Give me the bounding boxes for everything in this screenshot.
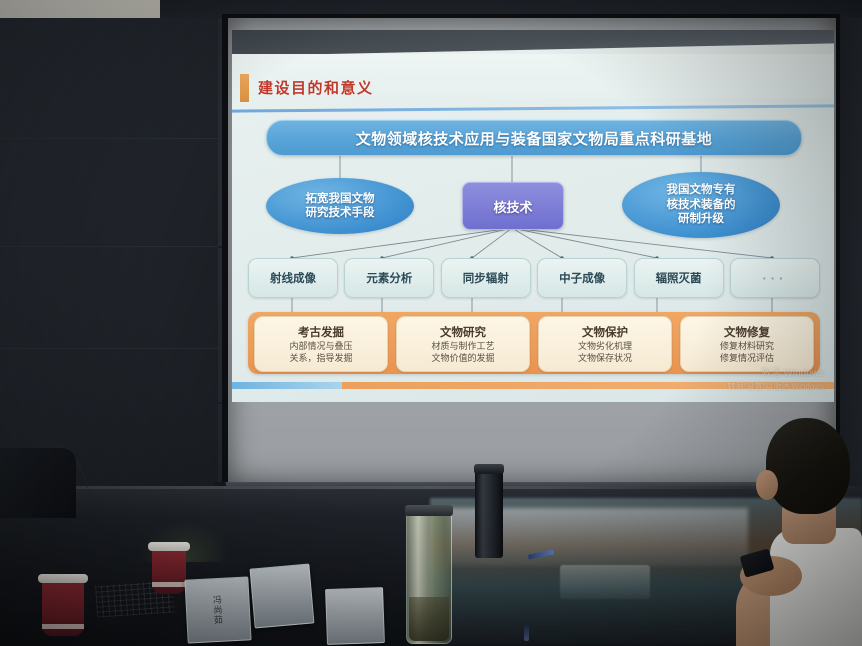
desk-pad xyxy=(560,565,650,599)
technique-box-ellipsis: ··· xyxy=(730,258,820,298)
attendee-ear xyxy=(756,470,778,500)
goal-left-text: 拓宽我国文物 研究技术手段 xyxy=(306,192,375,221)
name-plate-2 xyxy=(249,563,314,628)
slide-section-title: 建设目的和意义 xyxy=(258,77,374,98)
application-card-1: 考古发掘 内部情况与叠压 关系，指导发掘 xyxy=(254,316,388,372)
header-blue-rule xyxy=(232,104,834,112)
slide-main-banner: 文物领域核技术应用与装备国家文物局重点科研基地 xyxy=(266,120,802,156)
presentation-slide: 建设目的和意义 xyxy=(232,30,834,402)
paper-cup-rear[interactable] xyxy=(152,548,186,594)
application-card-4: 文物修复 修复材料研究 修复情况评估 xyxy=(680,316,814,372)
core-technology-box: 核技术 xyxy=(462,182,564,230)
goal-right-text: 我国文物专有 核技术装备的 研制升级 xyxy=(667,183,736,226)
paper-cup-front[interactable] xyxy=(42,580,84,636)
attendee-head xyxy=(766,418,850,514)
pen-secondary[interactable] xyxy=(524,625,529,641)
technique-box-4: 中子成像 xyxy=(537,258,627,298)
application-line-1b: 关系，指导发掘 xyxy=(289,353,352,364)
application-card-3: 文物保护 文物劣化机理 文物保存状况 xyxy=(538,316,672,372)
conference-room-scene: 建设目的和意义 xyxy=(0,0,862,646)
name-plate-1-text: 冯尚茹 xyxy=(211,595,226,626)
application-title-3: 文物保护 xyxy=(582,324,628,340)
watermark-line-1: 激活 Windows xyxy=(728,366,824,381)
windows-activation-watermark: 激活 Windows 转到"设置"以激活 Windows xyxy=(728,366,824,393)
slide-top-shadow-band xyxy=(232,30,834,56)
name-plate-1: 冯尚茹 xyxy=(184,576,251,643)
application-title-4: 文物修复 xyxy=(724,324,770,340)
goal-left-ellipse: 拓宽我国文物 研究技术手段 xyxy=(266,178,414,234)
watermark-line-2: 转到"设置"以激活 Windows xyxy=(728,381,824,393)
technique-box-3: 同步辐射 xyxy=(441,258,531,298)
core-technology-label: 核技术 xyxy=(493,197,532,216)
application-line-4a: 修复材料研究 xyxy=(720,341,774,352)
header-accent-bar xyxy=(240,74,249,102)
application-line-4b: 修复情况评估 xyxy=(720,353,774,364)
application-line-2b: 文物价值的发掘 xyxy=(431,353,494,364)
application-line-2a: 材质与制作工艺 xyxy=(431,341,494,352)
glass-tea-jar[interactable] xyxy=(406,512,452,644)
technique-box-2: 元素分析 xyxy=(344,258,434,298)
wall-panel-left xyxy=(0,18,218,488)
application-title-1: 考古发掘 xyxy=(298,324,344,340)
application-line-3b: 文物保存状况 xyxy=(578,353,632,364)
application-line-1a: 内部情况与叠压 xyxy=(289,341,352,352)
footer-strip-blue xyxy=(232,382,342,389)
black-thermos[interactable] xyxy=(475,468,503,558)
application-row: 考古发掘 内部情况与叠压 关系，指导发掘 文物研究 材质与制作工艺 文物价值的发… xyxy=(254,316,814,370)
name-plate-3 xyxy=(325,587,385,645)
technique-box-5: 辐照灭菌 xyxy=(634,258,724,298)
goal-right-ellipse: 我国文物专有 核技术装备的 研制升级 xyxy=(622,172,780,238)
table-edge xyxy=(0,486,862,489)
technique-box-1: 射线成像 xyxy=(248,258,338,298)
application-line-3a: 文物劣化机理 xyxy=(578,341,632,352)
application-title-2: 文物研究 xyxy=(440,324,486,340)
technique-row: 射线成像 元素分析 同步辐射 中子成像 辐照灭菌 ··· xyxy=(248,258,820,296)
application-card-2: 文物研究 材质与制作工艺 文物价值的发掘 xyxy=(396,316,530,372)
office-chair-back[interactable] xyxy=(0,448,76,518)
